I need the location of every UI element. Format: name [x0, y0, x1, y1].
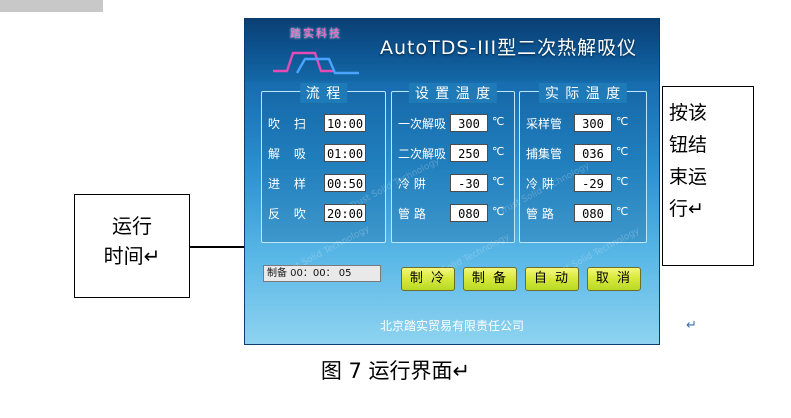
row-set-2-label: 冷 阱: [398, 175, 446, 192]
figure-caption: 图 7 运行界面↵: [0, 355, 791, 385]
row-set-3-unit: ℃: [492, 205, 504, 218]
row-actual-3-value: 080: [574, 204, 612, 222]
row-actual-3-unit: ℃: [616, 205, 628, 218]
brand-logo-text: 踏实科技: [261, 25, 371, 41]
logo-wave-icon: [271, 45, 363, 75]
annotation-cancel-line2: 钮结: [669, 129, 749, 161]
row-set-3-value[interactable]: 080: [450, 204, 488, 222]
row-set-1-unit: ℃: [492, 145, 504, 158]
column-set-temperature: 设 置 温 度 一次解吸 300 ℃ 二次解吸 250 ℃ 冷 阱 -30 ℃ …: [391, 91, 515, 243]
annotation-runtime-line1: 运行: [75, 211, 189, 241]
annotation-cancel-box: 按该 钮结 束运 行↵: [662, 86, 754, 266]
column-actual-temperature: 实 际 温 度 采样管 300 ℃ 捕集管 036 ℃ 冷 阱 -29 ℃ 管 …: [519, 91, 647, 243]
annotation-cancel-line3: 束运: [669, 161, 749, 193]
column-flow: 流 程 吹 扫 10:00 解 吸 01:00 进 样 00:50 反 吹 20…: [261, 91, 386, 243]
column-flow-title: 流 程: [300, 83, 347, 103]
row-actual-3-label: 管 路: [526, 205, 574, 222]
device-screen-panel: 踏实科技 AutoTDS-III型二次热解吸仪 流 程 吹 扫 10:00 解 …: [244, 18, 660, 345]
row-set-0-value[interactable]: 300: [450, 114, 488, 132]
annotation-runtime-line2: 时间↵: [75, 241, 189, 271]
row-actual-2-value: -29: [574, 174, 612, 192]
row-flow-3-value[interactable]: 20:00: [324, 204, 366, 222]
row-actual-0-value: 300: [574, 114, 612, 132]
annotation-cancel-line4: 行↵: [669, 193, 749, 225]
auto-button[interactable]: 自 动: [525, 267, 579, 291]
row-actual-0-unit: ℃: [616, 115, 628, 128]
row-set-2-value[interactable]: -30: [450, 174, 488, 192]
column-actual-temperature-title: 实 际 温 度: [539, 83, 627, 103]
row-actual-1-unit: ℃: [616, 145, 628, 158]
row-actual-2-unit: ℃: [616, 175, 628, 188]
annotation-runtime-box: 运行 时间↵: [74, 194, 190, 298]
annotation-leader-line: [190, 246, 244, 248]
row-set-2-unit: ℃: [492, 175, 504, 188]
row-actual-0-label: 采样管: [526, 115, 574, 132]
brand-logo: 踏实科技: [261, 25, 371, 77]
row-flow-0-label: 吹 扫: [268, 115, 316, 132]
row-set-0-unit: ℃: [492, 115, 504, 128]
row-actual-1-value: 036: [574, 144, 612, 162]
row-flow-1-label: 解 吸: [268, 145, 316, 162]
column-set-temperature-title: 设 置 温 度: [409, 83, 497, 103]
row-set-1-label: 二次解吸: [398, 145, 446, 162]
row-flow-1-value[interactable]: 01:00: [324, 144, 366, 162]
row-set-1-value[interactable]: 250: [450, 144, 488, 162]
row-set-0-label: 一次解吸: [398, 115, 446, 132]
row-actual-2-label: 冷 阱: [526, 175, 574, 192]
prepare-button[interactable]: 制 备: [463, 267, 517, 291]
cancel-button[interactable]: 取 消: [587, 267, 641, 291]
top-left-gray-bar: [0, 0, 103, 12]
row-set-3-label: 管 路: [398, 205, 446, 222]
runtime-display: 制备 00：00： 05: [263, 265, 381, 282]
action-button-bar: 制 冷 制 备 自 动 取 消: [401, 267, 649, 293]
stray-pilcrow-mark: ↵: [686, 318, 697, 333]
row-actual-1-label: 捕集管: [526, 145, 574, 162]
annotation-cancel-line1: 按该: [669, 97, 749, 129]
cooling-button[interactable]: 制 冷: [401, 267, 455, 291]
row-flow-3-label: 反 吹: [268, 205, 316, 222]
row-flow-2-label: 进 样: [268, 175, 316, 192]
row-flow-0-value[interactable]: 10:00: [324, 114, 366, 132]
device-footer: 北京踏实贸易有限责任公司: [245, 317, 659, 334]
parameter-columns: 流 程 吹 扫 10:00 解 吸 01:00 进 样 00:50 反 吹 20…: [261, 91, 647, 261]
row-flow-2-value[interactable]: 00:50: [324, 174, 366, 192]
device-title: AutoTDS-III型二次热解吸仪: [380, 33, 650, 60]
